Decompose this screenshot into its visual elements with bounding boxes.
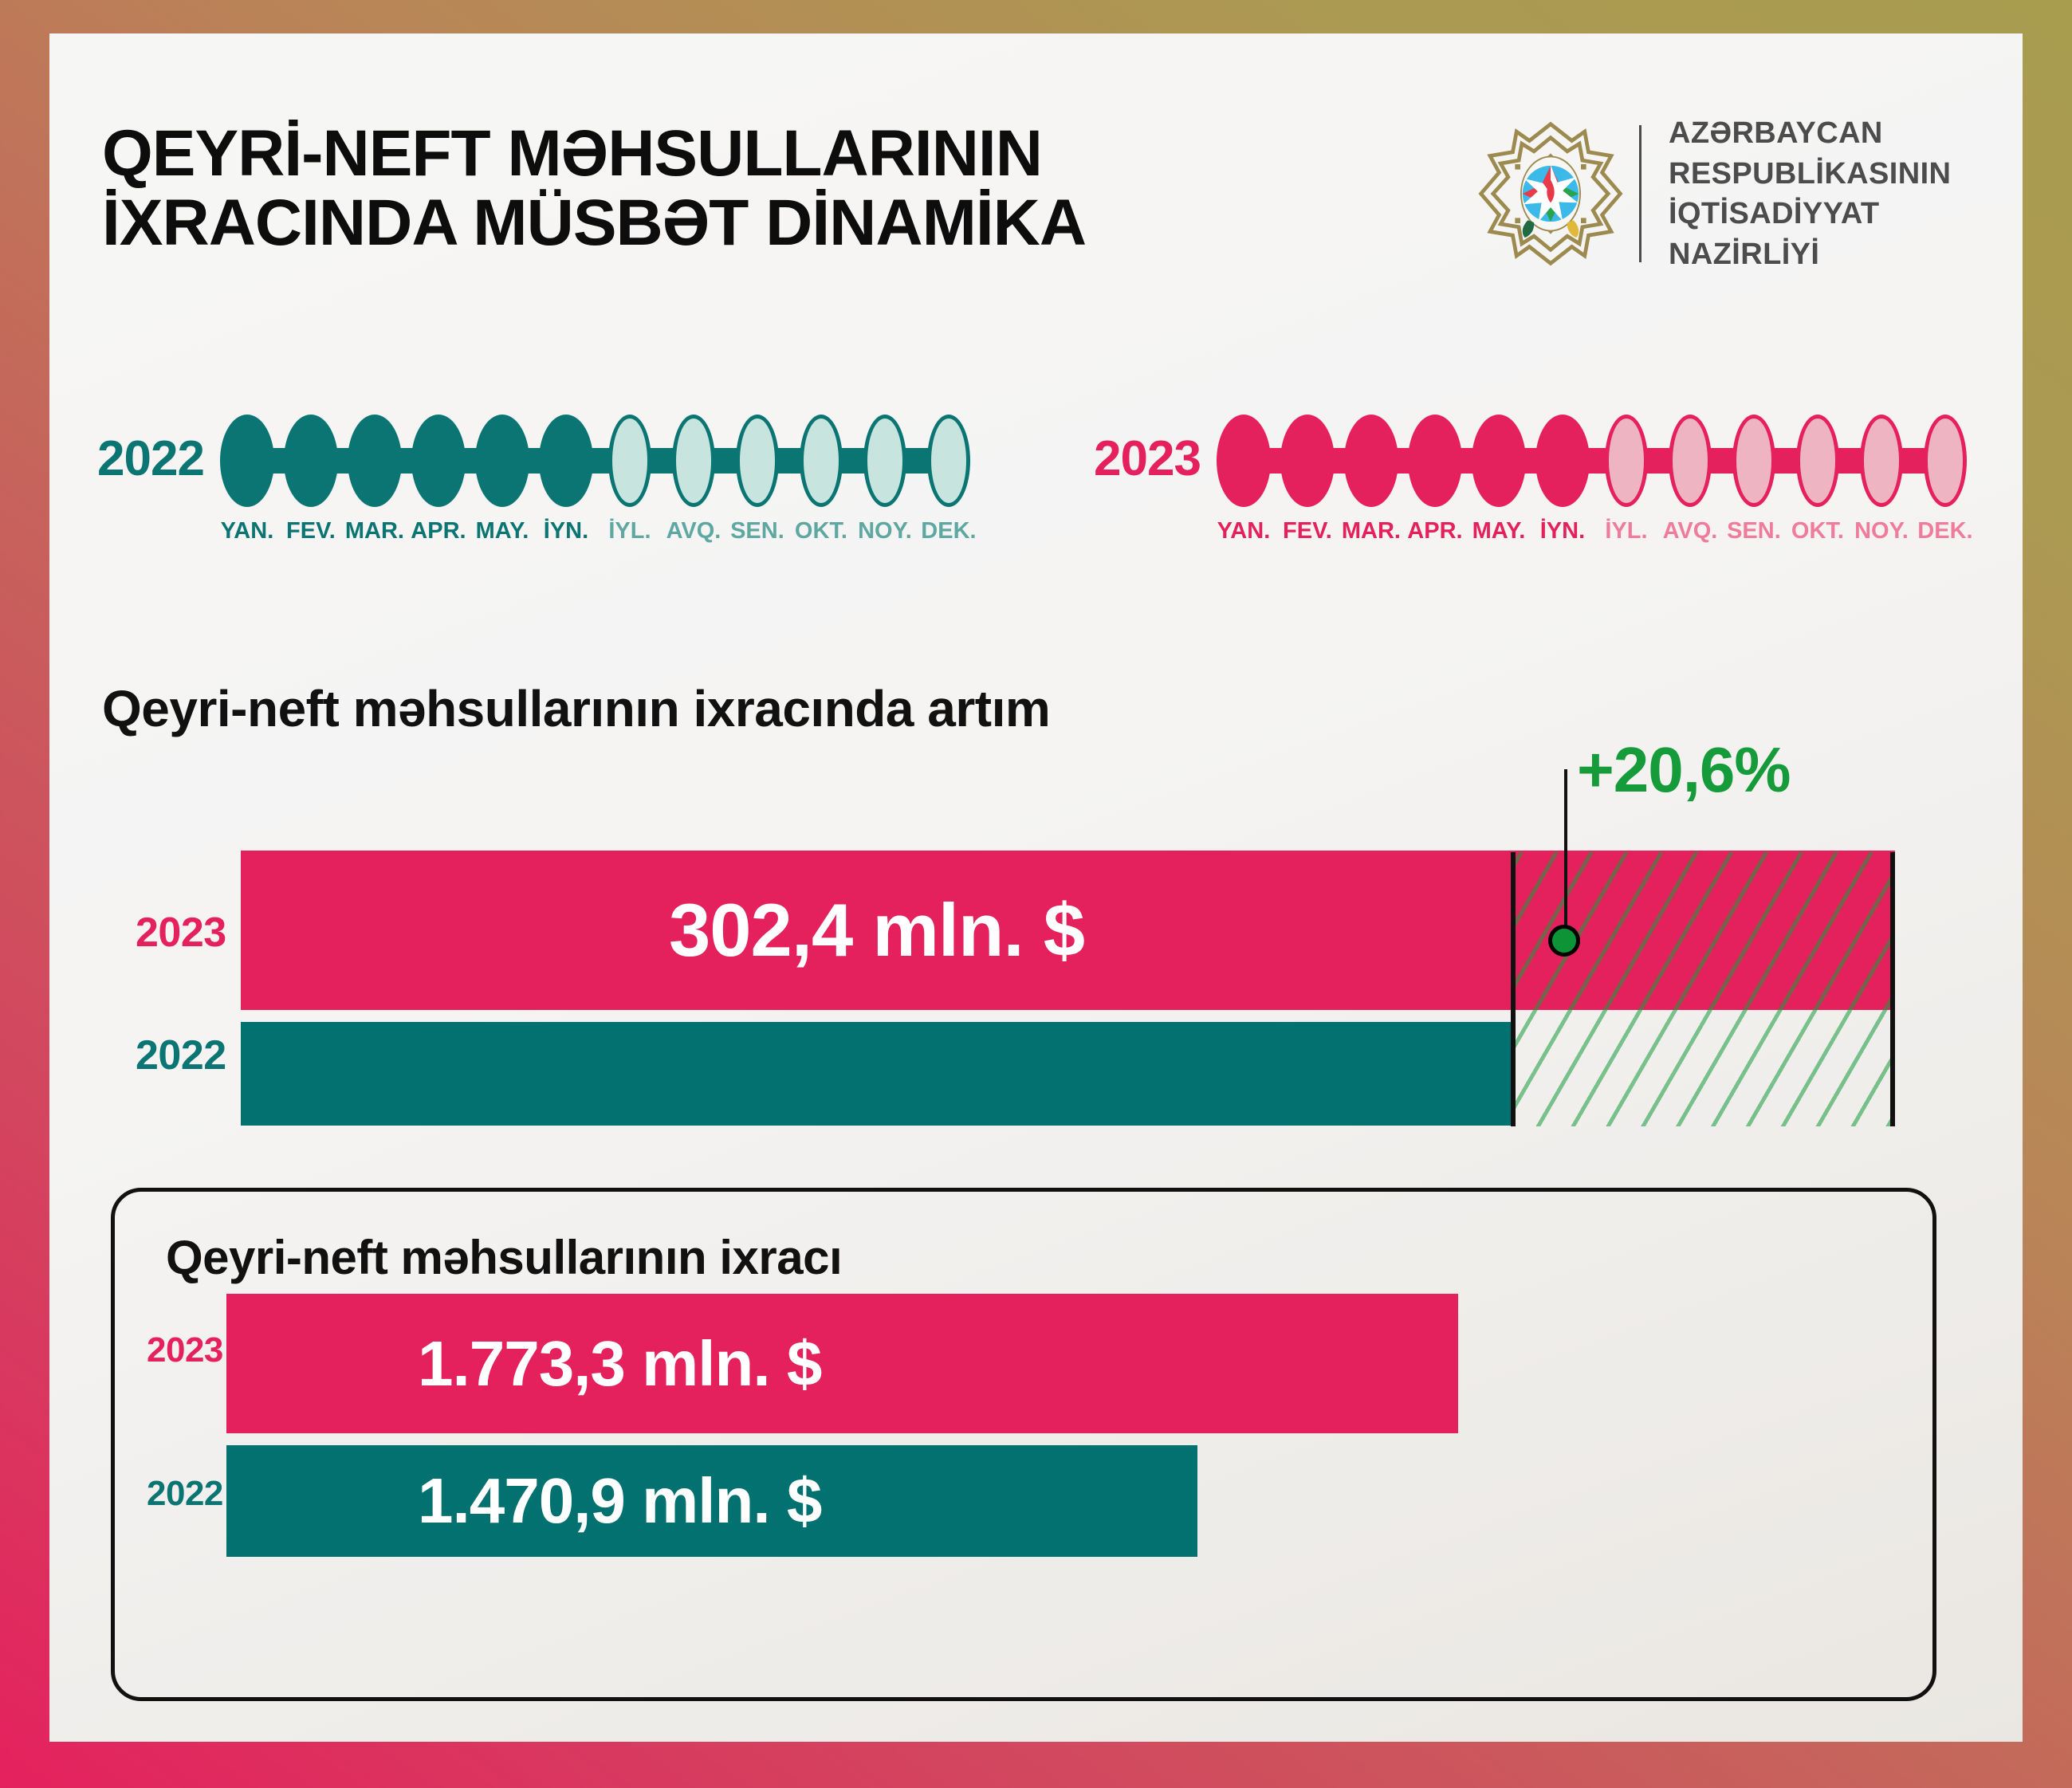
- timeline-month: SEN.: [1722, 415, 1786, 544]
- growth-bar-2023-value: 302,4 mln. $: [241, 851, 1512, 1010]
- month-label: SEN.: [725, 518, 789, 544]
- month-label: NOY.: [1850, 518, 1913, 544]
- month-dot-filled: [348, 415, 402, 507]
- timeline-month: MAR.: [1339, 415, 1403, 544]
- export-bar-label-2022: 2022: [147, 1474, 223, 1514]
- timeline-month: NOY.: [853, 415, 917, 544]
- timeline-month: OKT.: [1786, 415, 1850, 544]
- month-dot-filled: [475, 415, 529, 507]
- export-bar-2022: 1.470,9 mln. $: [226, 1445, 1197, 1557]
- growth-chart-heading: Qeyri-neft məhsullarının ixracında artım: [102, 679, 1050, 738]
- month-dot-open: [608, 415, 651, 507]
- ministry-name-line3: İQTİSADİYYAT: [1669, 194, 1951, 234]
- timeline-month: APR.: [1403, 415, 1467, 544]
- infographic-frame: QEYRİ-NEFT MƏHSULLARININ İXRACINDA MÜSBƏ…: [0, 0, 2072, 1788]
- timeline-month: APR.: [407, 415, 470, 544]
- timeline-month: MAY.: [470, 415, 534, 544]
- export-bar-label-2023: 2023: [147, 1330, 223, 1370]
- month-dot-open: [1669, 415, 1712, 507]
- month-label: DEK.: [917, 518, 981, 544]
- month-label: İYL.: [1594, 518, 1658, 544]
- growth-bar-label-2022: 2022: [136, 1032, 226, 1079]
- ministry-name-line1: AZƏRBAYCAN: [1669, 113, 1951, 154]
- month-dot-open: [927, 415, 970, 507]
- month-dot-filled: [1472, 415, 1526, 507]
- timeline-month: AVQ.: [1658, 415, 1722, 544]
- month-dot-open: [1860, 415, 1903, 507]
- timeline-month: YAN.: [215, 415, 279, 544]
- timeline-2023-months: YAN. FEV. MAR. APR. MAY. İYN. İYL. AVQ. …: [1212, 415, 1977, 544]
- export-panel: Qeyri-neft məhsullarının ixracı 2023 202…: [111, 1188, 1936, 1701]
- timeline-month: DEK.: [1913, 415, 1977, 544]
- timeline-month: AVQ.: [662, 415, 725, 544]
- export-bar-2023-value: 1.773,3 mln. $: [418, 1327, 821, 1401]
- page-title: QEYRİ-NEFT MƏHSULLARININ İXRACINDA MÜSBƏ…: [102, 120, 1378, 258]
- month-dot-filled: [1280, 415, 1335, 507]
- month-label: APR.: [407, 518, 470, 544]
- month-label: MAR.: [343, 518, 407, 544]
- month-label: İYN.: [1531, 518, 1594, 544]
- month-label: FEV.: [1276, 518, 1339, 544]
- month-label: SEN.: [1722, 518, 1786, 544]
- growth-bar-2022: [241, 1022, 1511, 1126]
- timeline-month: YAN.: [1212, 415, 1276, 544]
- growth-bar-label-2023: 2023: [136, 909, 226, 957]
- timeline-2023: 2023 YAN. FEV. MAR. APR. MAY. İYN. İYL. …: [1094, 415, 1977, 544]
- timeline-month: FEV.: [279, 415, 343, 544]
- growth-percent-badge: +20,6%: [1577, 733, 1791, 807]
- month-dot-filled: [411, 415, 466, 507]
- month-dot-filled: [1217, 415, 1271, 507]
- month-dot-open: [672, 415, 715, 507]
- month-dot-open: [736, 415, 779, 507]
- timeline-month: FEV.: [1276, 415, 1339, 544]
- timeline-month: DEK.: [917, 415, 981, 544]
- month-label: MAY.: [470, 518, 534, 544]
- timeline-2022-months: YAN. FEV. MAR. APR. MAY. İYN. İYL. AVQ. …: [215, 415, 981, 544]
- timeline-month: SEN.: [725, 415, 789, 544]
- month-dot-open: [1924, 415, 1967, 507]
- ministry-name-line2: RESPUBLİKASININ: [1669, 154, 1951, 195]
- month-label: MAR.: [1339, 518, 1403, 544]
- month-dot-filled: [539, 415, 593, 507]
- timeline-2022: 2022 YAN. FEV. MAR. APR. MAY. İYN. İYL. …: [97, 415, 981, 544]
- export-bar-2022-value: 1.470,9 mln. $: [418, 1464, 821, 1538]
- growth-increment-hatch: [1511, 852, 1895, 1126]
- month-dot-filled: [1535, 415, 1590, 507]
- month-dot-filled: [284, 415, 338, 507]
- month-label: YAN.: [215, 518, 279, 544]
- timeline-month: MAY.: [1467, 415, 1531, 544]
- month-dot-filled: [1408, 415, 1462, 507]
- month-label: MAY.: [1467, 518, 1531, 544]
- timeline-month: İYN.: [534, 415, 598, 544]
- timeline-2023-year: 2023: [1094, 430, 1201, 487]
- timeline-2022-year: 2022: [97, 430, 204, 487]
- timeline-month: MAR.: [343, 415, 407, 544]
- month-label: OKT.: [789, 518, 853, 544]
- logo-divider: [1639, 125, 1641, 262]
- month-dot-open: [1732, 415, 1775, 507]
- infographic-canvas: QEYRİ-NEFT MƏHSULLARININ İXRACINDA MÜSBƏ…: [49, 33, 2023, 1742]
- month-label: AVQ.: [1658, 518, 1722, 544]
- month-dot-filled: [220, 415, 274, 507]
- month-label: OKT.: [1786, 518, 1850, 544]
- month-dot-open: [800, 415, 843, 507]
- ministry-name: AZƏRBAYCAN RESPUBLİKASININ İQTİSADİYYAT …: [1669, 113, 1951, 274]
- azerbaijan-state-emblem-icon: [1475, 118, 1626, 269]
- month-label: FEV.: [279, 518, 343, 544]
- timeline-month: İYL.: [598, 415, 662, 544]
- month-label: APR.: [1403, 518, 1467, 544]
- timeline-month: NOY.: [1850, 415, 1913, 544]
- month-dot-open: [1605, 415, 1648, 507]
- month-dot-open: [863, 415, 906, 507]
- export-panel-heading: Qeyri-neft məhsullarının ixracı: [166, 1230, 842, 1285]
- timeline-month: İYN.: [1531, 415, 1594, 544]
- month-label: AVQ.: [662, 518, 725, 544]
- ministry-logo: AZƏRBAYCAN RESPUBLİKASININ İQTİSADİYYAT …: [1475, 113, 1951, 274]
- growth-marker-line: [1564, 769, 1567, 937]
- ministry-name-line4: NAZİRLİYİ: [1669, 234, 1951, 275]
- growth-marker-dot-icon: [1548, 925, 1580, 957]
- month-label: İYN.: [534, 518, 598, 544]
- month-label: DEK.: [1913, 518, 1977, 544]
- month-label: YAN.: [1212, 518, 1276, 544]
- export-bar-2023: 1.773,3 mln. $: [226, 1294, 1458, 1433]
- month-dot-filled: [1344, 415, 1398, 507]
- timeline-month: OKT.: [789, 415, 853, 544]
- month-dot-open: [1796, 415, 1839, 507]
- month-label: NOY.: [853, 518, 917, 544]
- timeline-month: İYL.: [1594, 415, 1658, 544]
- month-label: İYL.: [598, 518, 662, 544]
